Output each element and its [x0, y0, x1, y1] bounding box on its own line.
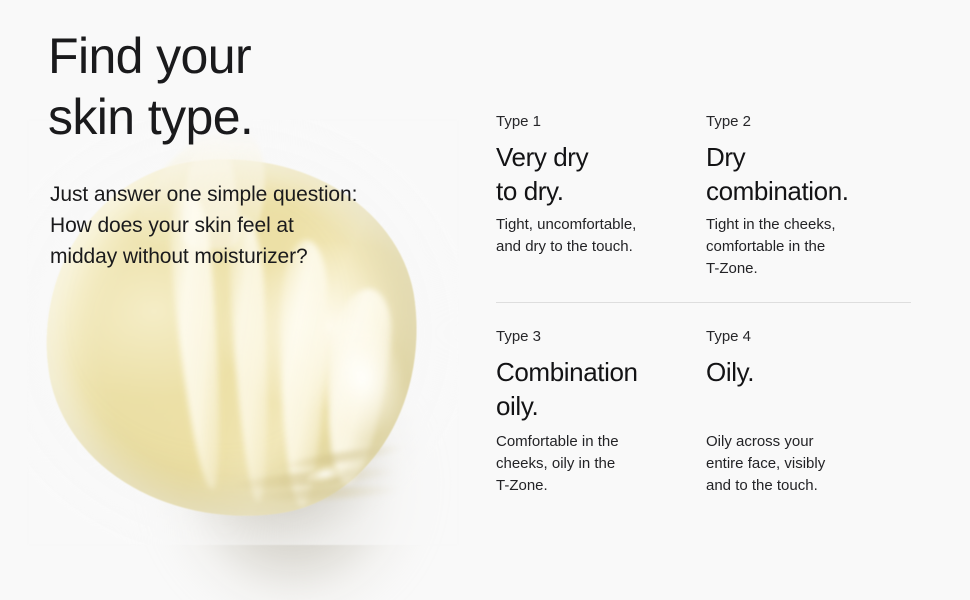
skin-type-quiz-page: Find your skin type. Just answer one sim…	[0, 0, 970, 600]
skin-type-card-4[interactable]: Type 4 Oily. Oily across your entire fac…	[706, 327, 916, 497]
skin-type-3-title: Combination oily.	[496, 355, 684, 425]
swatch-drop-shadow	[110, 286, 456, 600]
skin-type-card-3[interactable]: Type 3 Combination oily. Comfortable in …	[496, 327, 706, 497]
swatch-droplet	[305, 461, 354, 488]
skin-type-3-description: Comfortable in the cheeks, oily in the T…	[496, 431, 684, 497]
skin-type-4-description: Oily across your entire face, visibly an…	[706, 431, 894, 497]
swatch-ridge-3	[278, 240, 329, 507]
skin-type-card-2[interactable]: Type 2 Dry combination. Tight in the che…	[706, 112, 916, 280]
skin-type-grid: Type 1 Very dry to dry. Tight, uncomfort…	[496, 112, 916, 497]
skin-type-4-title: Oily.	[706, 355, 894, 425]
skin-type-4-eyebrow: Type 4	[706, 327, 894, 347]
skin-type-3-eyebrow: Type 3	[496, 327, 684, 347]
skin-type-row-bottom: Type 3 Combination oily. Comfortable in …	[496, 327, 916, 497]
hero-panel: Find your skin type. Just answer one sim…	[0, 0, 470, 600]
quiz-question: Just answer one simple question: How doe…	[50, 179, 357, 272]
swatch-fold-3	[280, 442, 406, 472]
grid-divider	[496, 302, 911, 303]
skin-type-2-eyebrow: Type 2	[706, 112, 894, 132]
skin-type-2-description: Tight in the cheeks, comfortable in the …	[706, 214, 894, 280]
swatch-fold-1	[228, 465, 398, 493]
page-title: Find your skin type.	[48, 26, 253, 148]
skin-type-2-title: Dry combination.	[706, 140, 894, 208]
skin-type-row-top: Type 1 Very dry to dry. Tight, uncomfort…	[496, 112, 916, 280]
skin-type-1-description: Tight, uncomfortable, and dry to the tou…	[496, 214, 684, 258]
swatch-gloss-highlight	[301, 300, 435, 471]
swatch-ridge-4	[318, 286, 396, 487]
swatch-fold-2	[252, 484, 402, 503]
skin-type-1-title: Very dry to dry.	[496, 140, 684, 208]
skin-type-card-1[interactable]: Type 1 Very dry to dry. Tight, uncomfort…	[496, 112, 706, 280]
skin-type-1-eyebrow: Type 1	[496, 112, 684, 132]
